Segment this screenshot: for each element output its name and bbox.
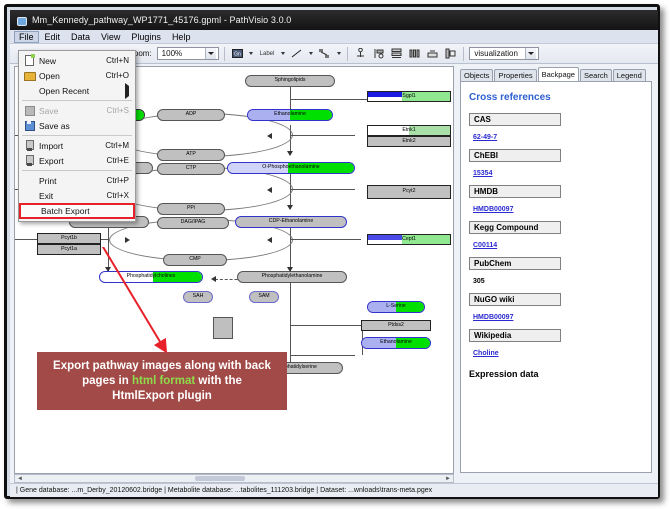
file-menu-dropdown[interactable]: New Ctrl+N Open Ctrl+O Open Recent Save … xyxy=(18,50,136,222)
menu-item-shortcut: Ctrl+M xyxy=(105,141,135,150)
chevron-down-icon xyxy=(205,48,216,59)
node-l-serine[interactable]: L-Serine xyxy=(367,301,425,313)
tab-properties[interactable]: Properties xyxy=(494,69,536,81)
svg-text:Gn: Gn xyxy=(234,52,241,58)
menu-view[interactable]: View xyxy=(96,31,125,43)
menu-item-shortcut: Ctrl+N xyxy=(106,56,135,65)
annotation-callout: Export pathway images along with back pa… xyxy=(37,352,287,410)
menu-data[interactable]: Data xyxy=(66,31,95,43)
xref-label-hmdb: HMDB xyxy=(469,185,561,198)
node-ptdss2[interactable]: Ptdss2 xyxy=(361,320,431,331)
xref-value-cas[interactable]: 62-49-7 xyxy=(473,134,497,141)
callout-line-2b: with the xyxy=(195,375,242,387)
callout-line-3: HtmlExport plugin xyxy=(112,389,212,404)
node-label: Ethanolamine xyxy=(380,340,412,345)
scroll-thumb[interactable] xyxy=(195,476,245,481)
menu-separator-3 xyxy=(22,170,132,171)
menu-item-import[interactable]: Import Ctrl+M xyxy=(19,138,135,153)
menu-item-label: New xyxy=(39,56,106,66)
menu-item-shortcut: Ctrl+P xyxy=(107,176,135,185)
zoom-value: 100% xyxy=(162,49,205,58)
xref-label-pubchem: PubChem xyxy=(469,257,561,270)
edge-line xyxy=(291,239,361,240)
xref-value-kegg[interactable]: C00114 xyxy=(473,242,497,249)
menu-item-label: Open xyxy=(39,71,106,81)
menu-separator-2 xyxy=(22,135,132,136)
window-frame: Mm_Kennedy_pathway_WP1771_45176.gpml - P… xyxy=(4,4,660,499)
xref-label-wikipedia: Wikipedia xyxy=(469,329,561,342)
open-folder-icon xyxy=(19,70,39,81)
menu-item-print[interactable]: Print Ctrl+P xyxy=(19,173,135,188)
callout-line-2: pages in html format with the xyxy=(82,374,242,389)
menu-item-label: Import xyxy=(39,141,105,151)
toolbar-separator-3 xyxy=(463,47,464,61)
menu-item-batch-export[interactable]: Batch Export xyxy=(19,203,135,219)
callout-line-2a: pages in xyxy=(82,375,132,387)
expression-data-heading: Expression data xyxy=(469,369,643,379)
edge-arrow xyxy=(287,205,293,210)
edge-arrow xyxy=(267,187,272,193)
order-icon[interactable] xyxy=(443,46,458,61)
node-label: Sgpl1 xyxy=(402,94,415,99)
node-ctp[interactable]: CTP xyxy=(157,163,225,175)
xref-label-nugo: NuGO wiki xyxy=(469,293,561,306)
node-label: CTP xyxy=(186,166,196,171)
window-client: Mm_Kennedy_pathway_WP1771_45176.gpml - P… xyxy=(10,10,658,497)
node-label: Ptdss2 xyxy=(388,323,404,328)
xref-label-cas: CAS xyxy=(469,113,561,126)
backpage-content: Cross references CAS 62-49-7 ChEBI 15354… xyxy=(460,81,652,473)
node-adp[interactable]: ADP xyxy=(157,109,225,121)
menu-item-save-as[interactable]: Save as xyxy=(19,118,135,133)
xref-value-wikipedia[interactable]: Choline xyxy=(473,350,499,357)
window-title: Mm_Kennedy_pathway_WP1771_45176.gpml - P… xyxy=(32,15,291,25)
node-pcyt1b[interactable]: Pcyt1b xyxy=(37,233,101,244)
menu-plugins[interactable]: Plugins xyxy=(126,31,166,43)
node-label: CDP-Ethanolamine xyxy=(269,219,313,224)
node-cept1[interactable]: Cept1 xyxy=(367,234,451,245)
interaction-icon[interactable] xyxy=(317,46,332,61)
panel-tabs: Objects Properties Backpage Search Legen… xyxy=(458,66,654,81)
menu-item-shortcut: Ctrl+X xyxy=(107,191,135,200)
edge-line xyxy=(291,189,355,190)
edge-arrow xyxy=(125,237,130,243)
menu-help[interactable]: Help xyxy=(167,31,196,43)
toolbar-separator-2 xyxy=(347,47,348,61)
edge-line xyxy=(291,355,355,356)
node-sphingolipids[interactable]: Sphingolipids xyxy=(245,75,335,87)
menu-item-shortcut: Ctrl+E xyxy=(107,156,135,165)
label-button[interactable]: Label xyxy=(258,51,277,57)
status-bar: | Gene database: ...m_Derby_20120602.bri… xyxy=(10,483,658,497)
node-o-phosphoethanolamine[interactable]: O-Phosphoethanolamine xyxy=(227,162,355,174)
menu-item-label: Batch Export xyxy=(41,206,133,216)
edge-line xyxy=(291,325,361,326)
menu-item-exit[interactable]: Exit Ctrl+X xyxy=(19,188,135,203)
menu-item-new[interactable]: New Ctrl+N xyxy=(19,53,135,68)
menu-item-label: Save as xyxy=(39,121,129,131)
menu-item-open[interactable]: Open Ctrl+O xyxy=(19,68,135,83)
node-label: PPi xyxy=(187,206,195,211)
edge-arrow xyxy=(267,133,272,139)
node-label: Pcyt2 xyxy=(403,189,416,194)
interaction-dropdown-icon[interactable] xyxy=(335,47,342,61)
tab-backpage[interactable]: Backpage xyxy=(538,67,579,81)
menu-bar: File Edit Data View Plugins Help xyxy=(10,30,658,44)
stack-icon[interactable] xyxy=(389,46,404,61)
scroll-left-arrow[interactable]: ◄ xyxy=(15,476,25,482)
xref-label-chebi: ChEBI xyxy=(469,149,561,162)
node-label: Etnk1 xyxy=(402,128,415,133)
callout-highlight: html format xyxy=(132,375,195,387)
save-icon xyxy=(19,105,39,116)
xref-value-chebi[interactable]: 15354 xyxy=(473,170,492,177)
export-icon xyxy=(19,155,39,166)
node-dag-ipag[interactable]: DAG/IPAG xyxy=(157,217,229,229)
scroll-right-arrow[interactable]: ► xyxy=(443,476,453,482)
node-fill-a xyxy=(368,235,402,240)
edge-arrow xyxy=(287,151,293,156)
tab-search[interactable]: Search xyxy=(580,69,612,81)
node-pcyt2[interactable]: Pcyt2 xyxy=(367,185,451,199)
xref-label-kegg: Kegg Compound xyxy=(469,221,561,234)
menu-item-shortcut: Ctrl+O xyxy=(106,71,135,80)
menu-item-open-recent[interactable]: Open Recent xyxy=(19,83,135,98)
edge-line xyxy=(290,281,291,371)
save-as-icon xyxy=(19,120,39,131)
datanode-dropdown-icon[interactable] xyxy=(248,47,255,61)
toolbar-separator xyxy=(224,47,225,61)
node-label: Etnk2 xyxy=(402,139,415,144)
node-label: Ethanolamine xyxy=(274,112,306,117)
title-bar: Mm_Kennedy_pathway_WP1771_45176.gpml - P… xyxy=(10,10,658,30)
align-icon[interactable] xyxy=(371,46,386,61)
tab-legend[interactable]: Legend xyxy=(613,69,646,81)
node-label: L-Serine xyxy=(386,304,406,309)
edge-line xyxy=(291,135,355,136)
menu-item-export[interactable]: Export Ctrl+E xyxy=(19,153,135,168)
import-icon xyxy=(19,140,39,151)
callout-line-1: Export pathway images along with back xyxy=(53,359,271,374)
menu-item-label: Save xyxy=(39,106,107,116)
new-file-icon xyxy=(19,55,39,66)
menu-item-shortcut: Ctrl+S xyxy=(107,106,135,115)
edge-arrow xyxy=(267,237,272,243)
menu-edit[interactable]: Edit xyxy=(40,31,66,43)
visualization-combo[interactable]: visualization xyxy=(469,47,539,60)
menu-item-label: Export xyxy=(39,156,107,166)
node-label: Sphingolipids xyxy=(275,78,306,83)
menu-file[interactable]: File xyxy=(14,31,39,43)
xref-value-pubchem: 305 xyxy=(473,278,485,285)
node-ethanolamine-top[interactable]: Ethanolamine xyxy=(247,109,333,121)
node-label: SAM xyxy=(258,294,269,299)
canvas-hscrollbar[interactable]: ◄ ► xyxy=(14,474,454,483)
node-atp[interactable]: ATP xyxy=(157,149,225,161)
node-phosphatidylethanolamine[interactable]: Phosphatidylethanolamine xyxy=(237,271,347,283)
pathvisio-icon xyxy=(16,15,27,26)
zoom-combo[interactable]: 100% xyxy=(157,47,219,60)
cross-references-heading: Cross references xyxy=(469,92,643,103)
edge-line xyxy=(290,221,291,271)
right-panel: Objects Properties Backpage Search Legen… xyxy=(458,66,654,474)
menu-item-label: Exit xyxy=(39,191,107,201)
anchor-icon[interactable] xyxy=(353,46,368,61)
label-dropdown-icon[interactable] xyxy=(279,47,286,61)
tab-objects[interactable]: Objects xyxy=(460,69,493,81)
node-etnk1[interactable]: Etnk1 xyxy=(367,125,451,136)
xref-value-nugo[interactable]: HMDB00097 xyxy=(473,314,513,321)
datanode-icon[interactable]: Gn xyxy=(230,46,245,61)
node-etnk2[interactable]: Etnk2 xyxy=(367,136,451,147)
status-text: | Gene database: ...m_Derby_20120602.bri… xyxy=(16,487,432,494)
distribute-icon[interactable] xyxy=(407,46,422,61)
node-label: ADP xyxy=(186,112,197,117)
line-icon[interactable] xyxy=(289,46,304,61)
visualization-value: visualization xyxy=(474,49,525,58)
node-ethanolamine-right[interactable]: Ethanolamine xyxy=(361,337,431,349)
node-label: Pcyt1b xyxy=(61,236,77,241)
node-label: Phosphatidylethanolamine xyxy=(262,274,323,279)
menu-item-save[interactable]: Save Ctrl+S xyxy=(19,103,135,118)
edge-line xyxy=(290,99,368,100)
node-fill-a xyxy=(368,92,402,97)
app-window: Mm_Kennedy_pathway_WP1771_45176.gpml - P… xyxy=(0,0,670,509)
node-label: ATP xyxy=(186,152,196,157)
group-icon[interactable] xyxy=(425,46,440,61)
xref-value-hmdb[interactable]: HMDB00097 xyxy=(473,206,513,213)
menu-item-label: Print xyxy=(39,176,107,186)
node-sgpl1[interactable]: Sgpl1 xyxy=(367,91,451,102)
line-dropdown-icon[interactable] xyxy=(307,47,314,61)
node-label: Cept1 xyxy=(402,237,416,242)
node-label: O-Phosphoethanolamine xyxy=(262,165,319,170)
node-sam[interactable]: SAM xyxy=(249,291,279,303)
chevron-down-icon-2 xyxy=(525,48,536,59)
node-label: DAG/IPAG xyxy=(181,220,206,225)
submenu-arrow-icon xyxy=(125,86,135,96)
menu-item-label: Open Recent xyxy=(39,86,125,96)
node-ppi[interactable]: PPi xyxy=(157,203,225,215)
menu-separator xyxy=(22,100,132,101)
node-cdp-ethanolamine[interactable]: CDP-Ethanolamine xyxy=(235,216,347,228)
